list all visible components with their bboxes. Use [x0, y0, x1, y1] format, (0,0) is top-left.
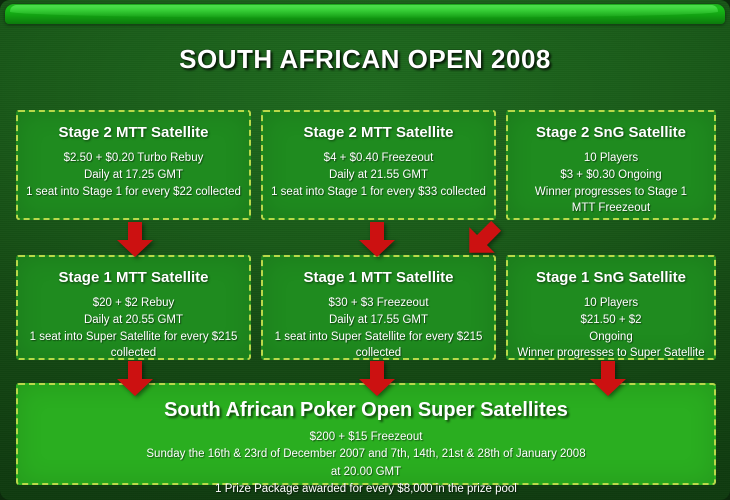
box-heading: Stage 1 SnG Satellite: [508, 269, 714, 286]
box-body: $2.50 + $0.20 Turbo Rebuy Daily at 17.25…: [18, 150, 249, 200]
box-line: Winner progresses to Stage 1: [516, 184, 706, 201]
arrow-stage1-sng-to-super-icon: [589, 361, 627, 397]
arrow-stage1-rebuy-to-super-icon: [116, 361, 154, 397]
banner-line: at 20.00 GMT: [18, 464, 714, 481]
box-super-satellites-banner: South African Poker Open Super Satellite…: [16, 383, 716, 485]
box-stage1-sng: Stage 1 SnG Satellite 10 Players $21.50 …: [506, 255, 716, 360]
box-stage2-mtt-turbo-rebuy: Stage 2 MTT Satellite $2.50 + $0.20 Turb…: [16, 110, 251, 220]
box-line: Daily at 21.55 GMT: [271, 167, 486, 184]
box-line: MTT Freezeout: [516, 200, 706, 217]
box-stage2-sng: Stage 2 SnG Satellite 10 Players $3 + $0…: [506, 110, 716, 220]
box-body: 10 Players $3 + $0.30 Ongoing Winner pro…: [508, 150, 714, 217]
box-heading: Stage 1 MTT Satellite: [18, 269, 249, 286]
box-heading: Stage 2 SnG Satellite: [508, 124, 714, 141]
box-line: Daily at 17.55 GMT: [271, 312, 486, 329]
page-title: SOUTH AFRICAN OPEN 2008: [0, 44, 730, 75]
box-line: 1 seat into Super Satellite for every $2…: [271, 329, 486, 362]
box-heading: Stage 1 MTT Satellite: [263, 269, 494, 286]
top-gloss-bar: [5, 4, 725, 24]
box-line: Daily at 17.25 GMT: [26, 167, 241, 184]
box-line: 1 seat into Super Satellite for every $2…: [26, 329, 241, 362]
banner-line: 1 Prize Package awarded for every $8,000…: [18, 481, 714, 498]
box-stage2-mtt-freezeout: Stage 2 MTT Satellite $4 + $0.40 Freezeo…: [261, 110, 496, 220]
box-body: 10 Players $21.50 + $2 Ongoing Winner pr…: [508, 295, 714, 362]
box-line: Daily at 20.55 GMT: [26, 312, 241, 329]
box-line: $20 + $2 Rebuy: [26, 295, 241, 312]
box-line: Winner progresses to Super Satellite: [510, 345, 712, 362]
box-line: $2.50 + $0.20 Turbo Rebuy: [26, 150, 241, 167]
box-heading: Stage 2 MTT Satellite: [263, 124, 494, 141]
box-line: 10 Players: [510, 295, 712, 312]
banner-line: $200 + $15 Freezeout: [18, 429, 714, 446]
box-line: 1 seat into Stage 1 for every $33 collec…: [271, 184, 486, 201]
arrow-stage2-freezeout-to-stage1-freezeout-icon: [358, 222, 396, 258]
box-line: $21.50 + $2: [510, 312, 712, 329]
box-body: $4 + $0.40 Freezeout Daily at 21.55 GMT …: [263, 150, 494, 200]
banner-line: Sunday the 16th & 23rd of December 2007 …: [18, 446, 714, 463]
box-body: $20 + $2 Rebuy Daily at 20.55 GMT 1 seat…: [18, 295, 249, 362]
box-line: $30 + $3 Freezeout: [271, 295, 486, 312]
box-heading: Stage 2 MTT Satellite: [18, 124, 249, 141]
arrow-stage2-rebuy-to-stage1-rebuy-icon: [116, 222, 154, 258]
box-body: $30 + $3 Freezeout Daily at 17.55 GMT 1 …: [263, 295, 494, 362]
box-stage1-mtt-freezeout: Stage 1 MTT Satellite $30 + $3 Freezeout…: [261, 255, 496, 360]
box-line: Ongoing: [510, 329, 712, 346]
promotion-flow-diagram: SOUTH AFRICAN OPEN 2008 Stage 2 MTT Sate…: [0, 0, 730, 500]
box-line: 1 seat into Stage 1 for every $22 collec…: [26, 184, 241, 201]
banner-heading: South African Poker Open Super Satellite…: [18, 399, 714, 422]
box-line: 10 Players: [516, 150, 706, 167]
box-line: $4 + $0.40 Freezeout: [271, 150, 486, 167]
arrow-stage2-sng-to-stage1-mtt-freezeout-icon: [458, 216, 506, 264]
banner-body: $200 + $15 Freezeout Sunday the 16th & 2…: [18, 429, 714, 498]
box-line: $3 + $0.30 Ongoing: [516, 167, 706, 184]
box-stage1-mtt-rebuy: Stage 1 MTT Satellite $20 + $2 Rebuy Dai…: [16, 255, 251, 360]
arrow-stage1-freezeout-to-super-icon: [358, 361, 396, 397]
